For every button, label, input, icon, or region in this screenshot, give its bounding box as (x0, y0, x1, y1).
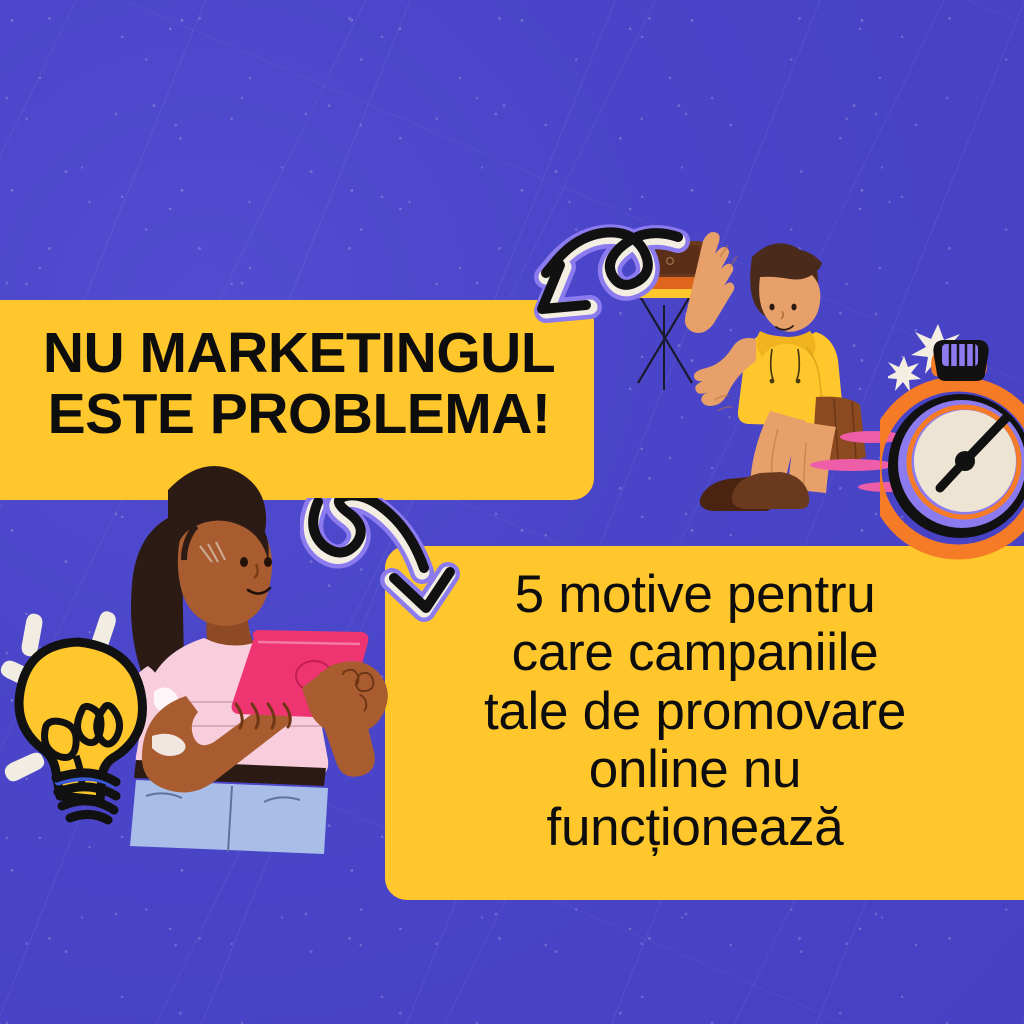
page-subtitle: 5 motive pentru care campaniile tale de … (395, 566, 995, 857)
page-title: NU MARKETINGUL ESTE PROBLEMA! (14, 323, 584, 445)
stopwatch-illustration (880, 318, 1024, 570)
lightbulb-idea-illustration (0, 600, 165, 825)
social-media-poster: NU MARKETINGUL ESTE PROBLEMA! (0, 0, 1024, 1024)
